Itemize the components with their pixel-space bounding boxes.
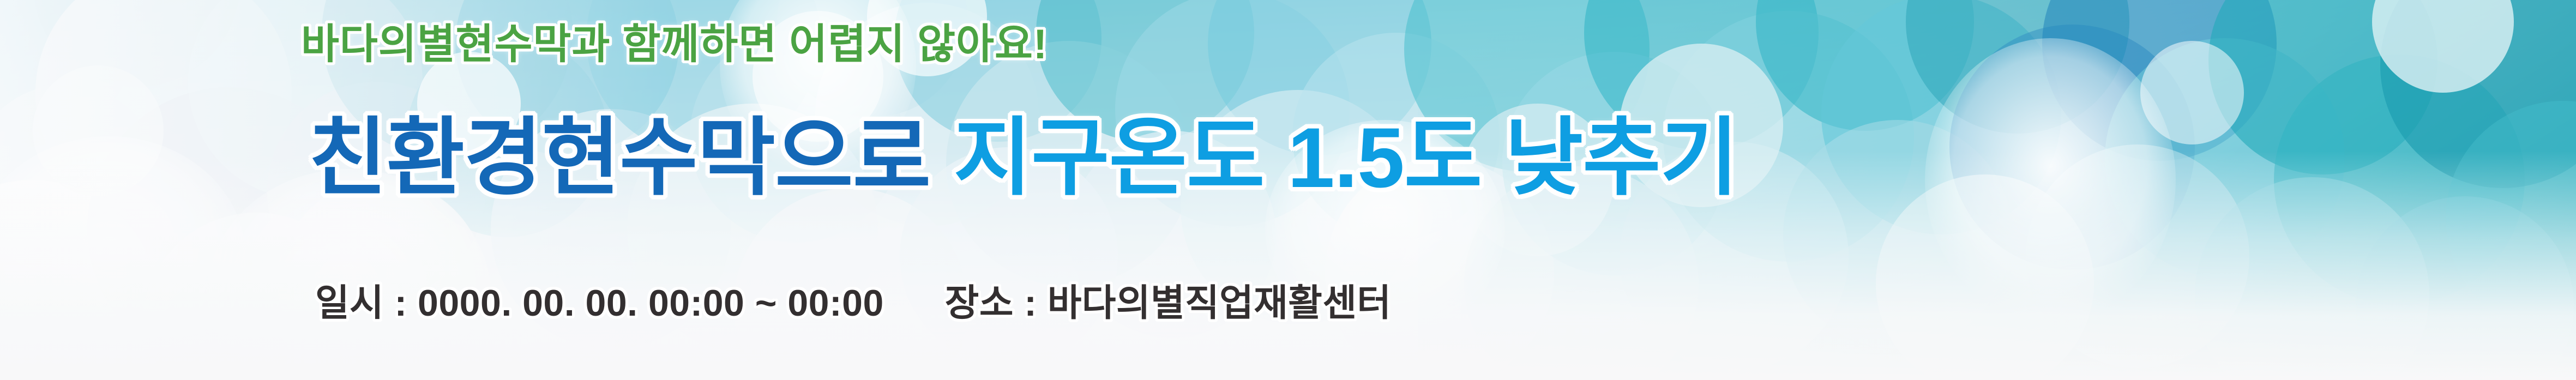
- banner-info-row: 일시 : 0000. 00. 00. 00:00 ~ 00:00장소 : 바다의…: [315, 285, 1391, 322]
- banner-place-label: 장소 : 바다의별직업재활센터: [945, 282, 1392, 324]
- banner-title-part-secondary: 지구온도 1.5도 낮추기: [930, 111, 1738, 206]
- banner-date-label: 일시 : 0000. 00. 00. 00:00 ~ 00:00: [315, 282, 884, 324]
- banner-root: 바다의별현수막과 함께하면 어렵지 않아요! 친환경현수막으로 지구온도 1.5…: [0, 0, 2576, 380]
- banner-title-part-primary: 친환경현수막으로: [309, 111, 930, 206]
- banner-title: 친환경현수막으로 지구온도 1.5도 낮추기: [309, 116, 1738, 201]
- banner-subtitle: 바다의별현수막과 함께하면 어렵지 않아요!: [301, 24, 1048, 65]
- banner-content: 바다의별현수막과 함께하면 어렵지 않아요! 친환경현수막으로 지구온도 1.5…: [0, 0, 2576, 380]
